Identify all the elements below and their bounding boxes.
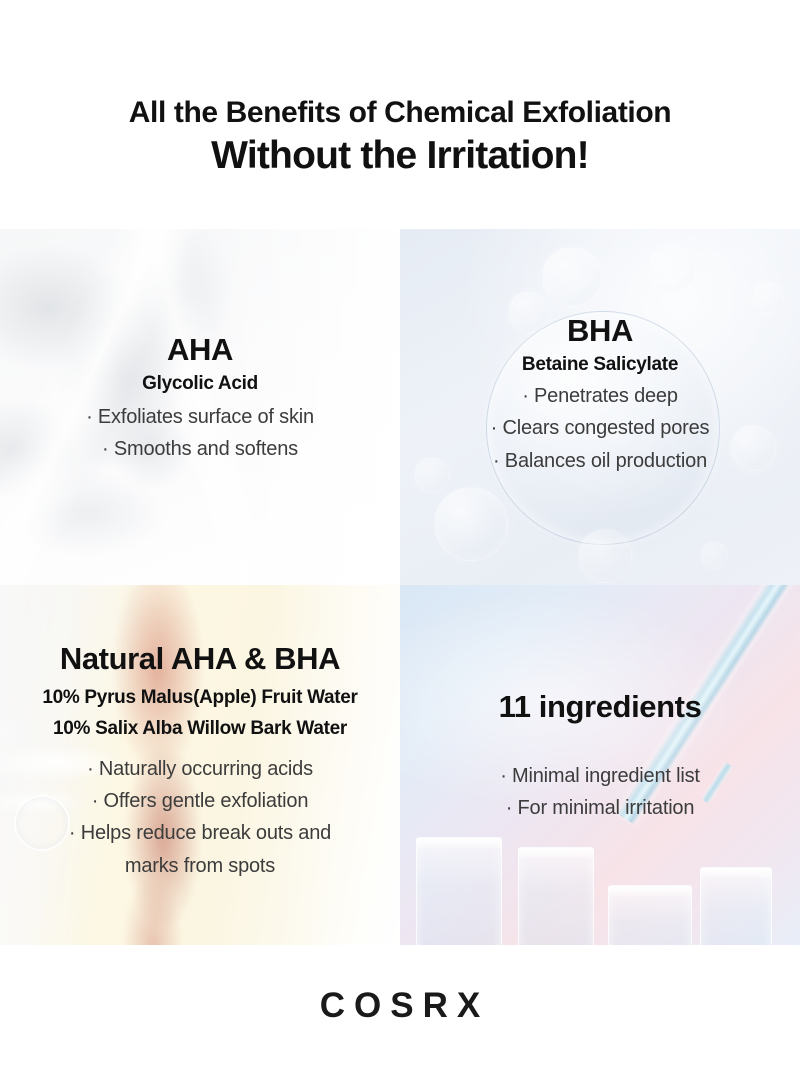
benefit-tile-aha-content: AHA Glycolic Acid · Exfoliates surface o… [0,229,400,466]
benefit-tile-bha: BHA Betaine Salicylate · Penetrates deep… [400,229,800,585]
natural-title: Natural AHA & BHA [0,642,400,676]
aha-bullet-list: · Exfoliates surface of skin · Smooths a… [0,401,400,466]
natural-bullet-list: · Naturally occurring acids · Offers gen… [0,753,400,883]
natural-bullet-3-continued: marks from spots [0,850,400,882]
bubble-icon [700,541,728,569]
headline-line-2: Without the Irritation! [0,133,800,179]
bha-bullet-1: · Penetrates deep [400,380,800,412]
vial-rim [417,838,501,848]
headline-line-1: All the Benefits of Chemical Exfoliation [0,96,800,130]
benefit-tile-bha-content: BHA Betaine Salicylate · Penetrates deep… [400,229,800,477]
vial-shape [518,847,594,945]
benefits-grid: AHA Glycolic Acid · Exfoliates surface o… [0,229,800,945]
footer: COSRX [0,945,800,1067]
bha-bullet-list: · Penetrates deep · Clears congested por… [400,380,800,477]
ingredients-bullet-list: · Minimal ingredient list · For minimal … [400,760,800,825]
aha-title: AHA [0,333,400,367]
bha-bullet-3: · Balances oil production [400,445,800,477]
natural-bullet-1: · Naturally occurring acids [0,753,400,785]
vial-shape [608,885,692,945]
bha-title: BHA [400,314,800,348]
benefit-tile-natural: Natural AHA & BHA 10% Pyrus Malus(Apple)… [0,585,400,945]
cosrx-logo: COSRX [311,986,489,1026]
benefit-tile-ingredients-content: 11 ingredients · Minimal ingredient list… [400,585,800,825]
ingredients-title: 11 ingredients [400,690,800,724]
benefit-tile-ingredients: 11 ingredients · Minimal ingredient list… [400,585,800,945]
natural-bullet-2: · Offers gentle exfoliation [0,785,400,817]
natural-subtitle-2: 10% Salix Alba Willow Bark Water [0,717,400,741]
bubble-icon [578,529,632,583]
vial-rim [609,886,691,896]
vial-rim [519,848,593,858]
vial-rim [701,868,771,878]
ingredients-bullet-1: · Minimal ingredient list [400,760,800,792]
vial-shape [700,867,772,945]
natural-subtitle-1: 10% Pyrus Malus(Apple) Fruit Water [0,686,400,710]
aha-bullet-2: · Smooths and softens [0,433,400,465]
bubble-icon [434,487,508,561]
benefit-tile-aha: AHA Glycolic Acid · Exfoliates surface o… [0,229,400,585]
aha-subtitle: Glycolic Acid [0,372,400,396]
bha-bullet-2: · Clears congested pores [400,412,800,444]
bha-subtitle: Betaine Salicylate [400,353,800,377]
benefit-tile-natural-content: Natural AHA & BHA 10% Pyrus Malus(Apple)… [0,585,400,882]
page-headline: All the Benefits of Chemical Exfoliation… [0,0,800,179]
ingredients-bullet-2: · For minimal irritation [400,792,800,824]
vial-shape [416,837,502,945]
natural-bullet-3: · Helps reduce break outs and [0,817,400,849]
aha-bullet-1: · Exfoliates surface of skin [0,401,400,433]
